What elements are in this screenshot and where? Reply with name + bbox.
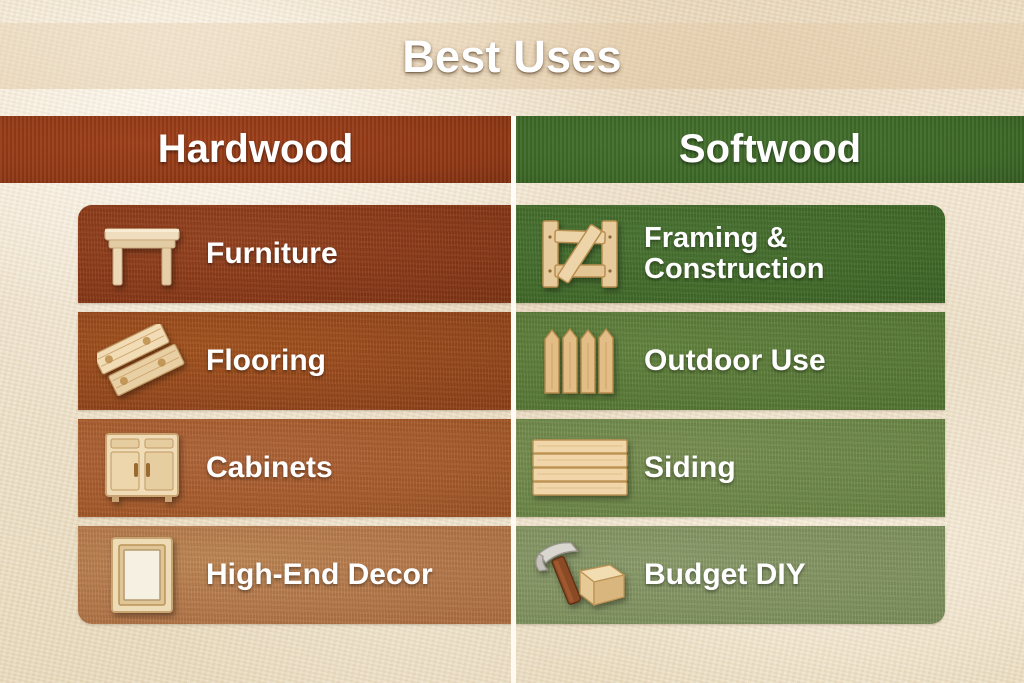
list-item-label-line2: Construction	[644, 253, 824, 285]
center-divider	[511, 116, 516, 683]
list-item[interactable]: Budget DIY	[516, 526, 945, 624]
fence-icon	[516, 312, 644, 410]
hammer-and-block-icon	[516, 526, 644, 624]
picture-frame-icon	[78, 526, 206, 624]
list-item[interactable]: Outdoor Use	[516, 312, 945, 410]
table-icon	[78, 205, 206, 303]
column-softwood: Framing & Construction	[516, 205, 945, 624]
list-item-label: High-End Decor	[206, 559, 443, 591]
wood-planks-icon	[78, 312, 206, 410]
column-header-softwood: Softwood	[516, 116, 1024, 183]
list-item[interactable]: Flooring	[78, 312, 511, 410]
list-item-label: Flooring	[206, 345, 336, 377]
list-item[interactable]: Cabinets	[78, 419, 511, 517]
column-header-hardwood: Hardwood	[0, 116, 511, 183]
list-item[interactable]: Framing & Construction	[516, 205, 945, 303]
page-title: Best Uses	[0, 28, 1024, 86]
wood-frame-brace-icon	[516, 205, 644, 303]
list-item-label: Furniture	[206, 238, 348, 270]
list-item[interactable]: Siding	[516, 419, 945, 517]
infographic-canvas: Best Uses Hardwood Softwood Furniture	[0, 0, 1024, 683]
list-item-label: Siding	[644, 452, 746, 484]
siding-boards-icon	[516, 419, 644, 517]
list-item[interactable]: High-End Decor	[78, 526, 511, 624]
list-item-label: Framing & Construction	[644, 223, 834, 284]
column-hardwood: Furniture	[78, 205, 511, 624]
list-item-label: Cabinets	[206, 452, 343, 484]
list-item-label-line1: Framing &	[644, 222, 787, 254]
cabinet-icon	[78, 419, 206, 517]
list-item-label: Outdoor Use	[644, 345, 836, 377]
list-item-label: Budget DIY	[644, 559, 816, 591]
list-item[interactable]: Furniture	[78, 205, 511, 303]
